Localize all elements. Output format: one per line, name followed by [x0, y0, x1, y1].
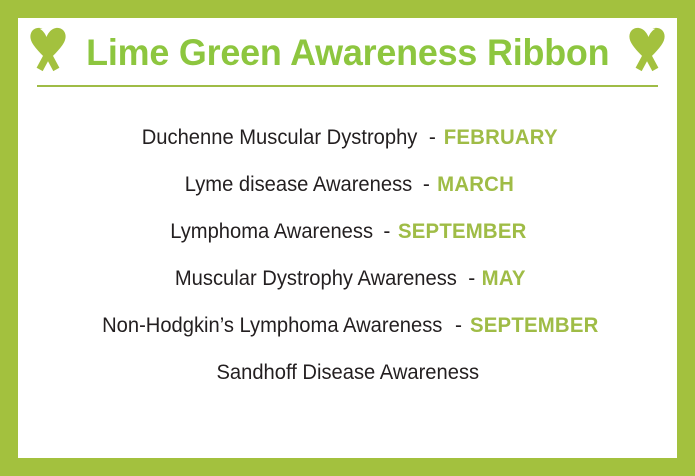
awareness-month: MAY [482, 267, 526, 291]
list-item: Lyme disease Awareness - MARCH [18, 161, 677, 208]
page-title: Lime Green Awareness Ribbon [86, 34, 609, 71]
entry-separator: - [423, 126, 442, 150]
disease-name: Muscular Dystrophy Awareness [174, 267, 456, 291]
entry-separator: - [462, 267, 481, 291]
awareness-ribbon-icon [28, 23, 68, 81]
awareness-month: MARCH [437, 173, 514, 197]
disease-name: Non-Hodgkin’s Lymphoma Awareness [102, 314, 442, 338]
entry-separator: - [449, 314, 468, 338]
disease-name: Duchenne Muscular Dystrophy [142, 126, 418, 150]
entry-separator: - [378, 220, 397, 244]
list-item: Sandhoff Disease Awareness - [18, 349, 677, 396]
list-item: Lymphoma Awareness - SEPTEMBER [18, 208, 677, 255]
awareness-ribbon-poster: Lime Green Awareness Ribbon Duchenne Mus… [0, 0, 695, 476]
poster-header: Lime Green Awareness Ribbon [18, 18, 677, 88]
title-underline-rule [37, 85, 658, 87]
disease-name: Lymphoma Awareness [170, 220, 373, 244]
awareness-month: FEBRUARY [443, 126, 557, 150]
disease-name: Lyme disease Awareness [185, 173, 412, 197]
awareness-month: SEPTEMBER [398, 220, 527, 244]
list-item: Muscular Dystrophy Awareness - MAY [18, 255, 677, 302]
entry-separator: - [417, 173, 436, 197]
list-item: Non-Hodgkin’s Lymphoma Awareness - SEPTE… [18, 302, 677, 349]
list-item: Duchenne Muscular Dystrophy - FEBRUARY [18, 114, 677, 161]
awareness-month: SEPTEMBER [470, 314, 599, 338]
awareness-entry-list: Duchenne Muscular Dystrophy - FEBRUARY L… [18, 114, 677, 396]
poster-card: Lime Green Awareness Ribbon Duchenne Mus… [18, 18, 677, 458]
disease-name: Sandhoff Disease Awareness [216, 361, 479, 385]
awareness-ribbon-icon [627, 23, 667, 81]
